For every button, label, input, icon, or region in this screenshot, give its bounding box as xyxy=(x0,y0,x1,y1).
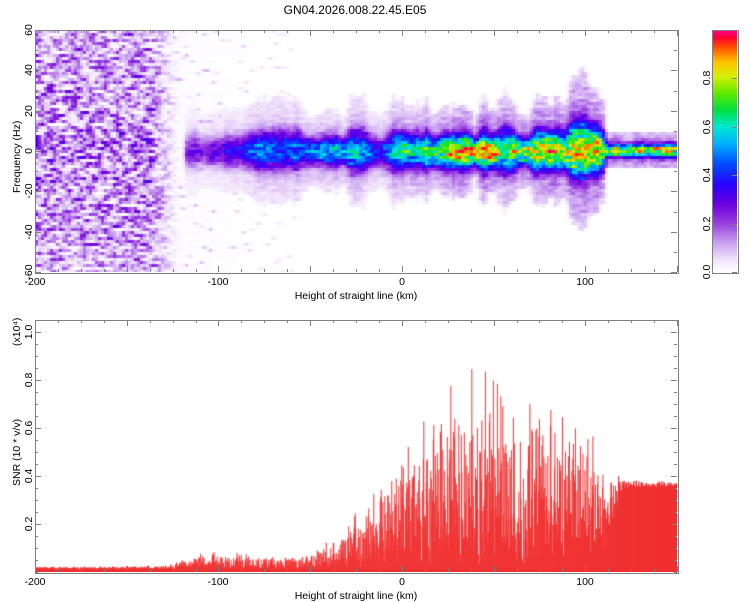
snr-ytick-minor xyxy=(35,416,38,417)
snr-xtick-minor-top xyxy=(425,320,426,323)
snr-xtick-minor-top xyxy=(58,320,59,323)
snr-xtick-minor-top xyxy=(539,320,540,323)
figure-root: GN04.2026.008.22.45.E05 -200-1000100-60-… xyxy=(0,0,750,600)
spectrogram-ytick-minor xyxy=(35,91,38,92)
spectrogram-xticklabel: 100 xyxy=(576,276,594,288)
snr-ytick-minor-right xyxy=(674,332,677,333)
snr-ytick-minor-right xyxy=(674,404,677,405)
snr-ytick-minor xyxy=(35,332,38,333)
spectrogram-xtick-minor xyxy=(585,269,586,272)
colorbar-ticklabel: 0.6 xyxy=(701,120,713,135)
spectrogram-xtick-minor-top xyxy=(608,30,609,33)
colorbar-ticklabel: 0.4 xyxy=(701,168,713,183)
snr-yticklabel: 1.0 xyxy=(23,325,35,340)
snr-ytick-minor-right xyxy=(674,380,677,381)
snr-xtick-minor-top xyxy=(173,320,174,323)
snr-ytick-minor xyxy=(35,560,38,561)
snr-xticklabel: -100 xyxy=(207,576,228,588)
spectrogram-xtick-minor xyxy=(608,269,609,272)
spectrogram-ytick-minor-right xyxy=(674,272,677,273)
figure-title: GN04.2026.008.22.45.E05 xyxy=(0,3,710,17)
snr-xtick-minor-top xyxy=(402,320,403,323)
colorbar-tick xyxy=(732,175,737,176)
snr-xtick-minor-top xyxy=(471,320,472,323)
colorbar-ticklabel: 0.2 xyxy=(701,217,713,232)
spectrogram-y-axis-label: Frequency (Hz) xyxy=(11,121,23,193)
snr-ytick-minor-right xyxy=(674,464,677,465)
snr-ytick-minor xyxy=(35,488,38,489)
spectrogram-ytick-minor xyxy=(35,131,38,132)
snr-xtick-minor xyxy=(631,569,632,572)
snr-xtick-minor-top xyxy=(264,320,265,323)
snr-yticklabel: 0.4 xyxy=(23,469,35,484)
snr-ytick-minor-right xyxy=(674,392,677,393)
spectrogram-xtick-minor xyxy=(310,269,311,272)
spectrogram-xtick-minor-top xyxy=(287,30,288,33)
spectrogram-ytick-minor-right xyxy=(674,252,677,253)
colorbar-ticklabel: 0.0 xyxy=(701,265,713,280)
snr-ytick-minor-right xyxy=(674,368,677,369)
spectrogram-x-axis-label: Height of straight line (km) xyxy=(295,290,418,302)
snr-xtick-minor xyxy=(677,569,678,572)
snr-xtick-minor-top xyxy=(677,320,678,323)
snr-xtick-minor xyxy=(333,569,334,572)
snr-xtick-minor-top xyxy=(494,320,495,323)
snr-xtick-minor xyxy=(585,569,586,572)
spectrogram-ytick-minor-right xyxy=(674,151,677,152)
spectrogram-xtick-minor-top xyxy=(379,30,380,33)
spectrogram-xtick-minor-top xyxy=(356,30,357,33)
snr-xtick-minor xyxy=(425,569,426,572)
spectrogram-xtick-minor xyxy=(127,269,128,272)
snr-xtick-minor xyxy=(241,569,242,572)
snr-ytick-minor-right xyxy=(674,452,677,453)
snr-xtick-minor-top xyxy=(379,320,380,323)
snr-xtick-minor xyxy=(218,569,219,572)
spectrogram-xtick-minor-top xyxy=(333,30,334,33)
snr-xtick-minor-top xyxy=(517,320,518,323)
spectrogram-ytick-minor xyxy=(35,252,38,253)
spectrogram-yticklabel: 40 xyxy=(23,64,35,76)
snr-ytick-minor xyxy=(35,548,38,549)
snr-y-axis-label: SNR (10 * v/v) xyxy=(11,419,23,486)
spectrogram-ytick-minor-right xyxy=(674,131,677,132)
colorbar-tick xyxy=(732,127,737,128)
snr-xtick-minor-top xyxy=(448,320,449,323)
spectrogram-xtick-minor-top xyxy=(494,30,495,33)
snr-ytick-minor-right xyxy=(674,428,677,429)
snr-xtick-minor-top xyxy=(196,320,197,323)
snr-xtick-minor xyxy=(654,569,655,572)
snr-xtick-minor-top xyxy=(150,320,151,323)
spectrogram-xtick-minor xyxy=(654,269,655,272)
snr-xtick-minor xyxy=(104,569,105,572)
snr-xtick-minor-top xyxy=(333,320,334,323)
snr-ytick-minor xyxy=(35,356,38,357)
spectrogram-ytick-minor-right xyxy=(674,191,677,192)
spectrogram-xtick-minor xyxy=(333,269,334,272)
snr-xtick-minor xyxy=(539,569,540,572)
spectrogram-yticklabel: 20 xyxy=(23,105,35,117)
spectrogram-xtick-minor-top xyxy=(448,30,449,33)
snr-trace-plot xyxy=(35,320,677,572)
spectrogram-xtick-minor-top xyxy=(150,30,151,33)
snr-ytick-minor xyxy=(35,452,38,453)
spectrogram-xtick-minor-top xyxy=(539,30,540,33)
snr-xtick-minor-top xyxy=(104,320,105,323)
snr-ytick-minor xyxy=(35,404,38,405)
spectrogram-xtick-minor xyxy=(150,269,151,272)
spectrogram-yticklabel: -40 xyxy=(23,224,35,239)
spectrogram-xtick-minor-top xyxy=(173,30,174,33)
snr-ytick-minor xyxy=(35,476,38,477)
snr-xtick-minor-top xyxy=(127,320,128,323)
snr-ytick-minor-right xyxy=(674,512,677,513)
spectrogram-ytick-minor xyxy=(35,50,38,51)
spectrogram-xtick-minor-top xyxy=(631,30,632,33)
colorbar-tick xyxy=(732,224,737,225)
snr-ytick-minor-right xyxy=(674,320,677,321)
snr-xticklabel: 100 xyxy=(576,576,594,588)
spectrogram-xtick-minor xyxy=(356,269,357,272)
snr-xtick-minor-top xyxy=(562,320,563,323)
spectrogram-xtick-minor-top xyxy=(196,30,197,33)
spectrogram-xtick-minor xyxy=(173,269,174,272)
spectrogram-xtick-minor xyxy=(517,269,518,272)
snr-xtick-minor xyxy=(264,569,265,572)
snr-xticklabel: 0 xyxy=(399,576,405,588)
snr-xtick-minor-top xyxy=(241,320,242,323)
snr-ytick-minor xyxy=(35,368,38,369)
spectrogram-xtick-minor xyxy=(631,269,632,272)
snr-y-axis-multiplier: (x10⁴) xyxy=(11,318,23,346)
snr-xtick-minor xyxy=(402,569,403,572)
spectrogram-yticklabel: 60 xyxy=(23,24,35,36)
spectrogram-xtick-minor xyxy=(539,269,540,272)
spectrogram-xtick-minor xyxy=(448,269,449,272)
spectrogram-ytick-minor xyxy=(35,232,38,233)
snr-xtick-minor-top xyxy=(81,320,82,323)
spectrogram-xtick-minor xyxy=(402,269,403,272)
snr-ytick-minor-right xyxy=(674,440,677,441)
snr-ytick-minor xyxy=(35,440,38,441)
spectrogram-xtick-minor xyxy=(471,269,472,272)
spectrogram-xtick-minor-top xyxy=(81,30,82,33)
spectrogram-ytick-minor-right xyxy=(674,111,677,112)
spectrogram-ytick-minor xyxy=(35,70,38,71)
spectrogram-ytick-minor-right xyxy=(674,70,677,71)
spectrogram-xtick-minor xyxy=(379,269,380,272)
snr-ytick-minor-right xyxy=(674,524,677,525)
spectrogram-xtick-minor-top xyxy=(218,30,219,33)
snr-xtick-minor xyxy=(173,569,174,572)
spectrogram-xtick-minor xyxy=(81,269,82,272)
snr-ytick-minor-right xyxy=(674,356,677,357)
spectrogram-ytick-minor xyxy=(35,212,38,213)
spectrogram-xtick-minor-top xyxy=(562,30,563,33)
spectrogram-xtick-minor xyxy=(677,269,678,272)
spectrogram-ytick-minor xyxy=(35,151,38,152)
spectrogram-xtick-minor xyxy=(264,269,265,272)
spectrogram-xtick-minor-top xyxy=(585,30,586,33)
spectrogram-xtick-minor xyxy=(104,269,105,272)
spectrogram-xtick-minor xyxy=(196,269,197,272)
snr-ytick-minor-right xyxy=(674,500,677,501)
snr-ytick-minor-right xyxy=(674,548,677,549)
snr-yticklabel: 0.2 xyxy=(23,517,35,532)
spectrogram-ytick-minor-right xyxy=(674,171,677,172)
snr-ytick-minor xyxy=(35,572,38,573)
spectrogram-xtick-minor-top xyxy=(241,30,242,33)
snr-xtick-minor-top xyxy=(654,320,655,323)
snr-ytick-minor xyxy=(35,344,38,345)
spectrogram-ytick-minor xyxy=(35,30,38,31)
spectrogram-xtick-minor-top xyxy=(517,30,518,33)
spectrogram-ytick-minor-right xyxy=(674,91,677,92)
snr-xtick-minor xyxy=(58,569,59,572)
snr-ytick-minor xyxy=(35,320,38,321)
snr-xtick-minor xyxy=(356,569,357,572)
snr-xtick-minor xyxy=(196,569,197,572)
snr-xtick-minor xyxy=(150,569,151,572)
snr-xtick-minor xyxy=(127,569,128,572)
spectrogram-ytick-minor xyxy=(35,272,38,273)
colorbar-tick xyxy=(732,272,737,273)
snr-ytick-minor xyxy=(35,500,38,501)
colorbar-gradient xyxy=(712,30,737,272)
snr-xtick-minor xyxy=(448,569,449,572)
snr-xtick-minor xyxy=(287,569,288,572)
snr-ytick-minor-right xyxy=(674,572,677,573)
snr-ytick-minor xyxy=(35,392,38,393)
snr-x-axis-label: Height of straight line (km) xyxy=(295,590,418,602)
snr-ytick-minor xyxy=(35,512,38,513)
colorbar-tick xyxy=(732,78,737,79)
spectrogram-xtick-minor xyxy=(287,269,288,272)
snr-xtick-minor-top xyxy=(585,320,586,323)
snr-xtick-minor xyxy=(517,569,518,572)
snr-xtick-minor-top xyxy=(218,320,219,323)
snr-xticklabel: -200 xyxy=(24,576,45,588)
snr-xtick-minor xyxy=(310,569,311,572)
spectrogram-xtick-minor-top xyxy=(677,30,678,33)
spectrogram-xtick-minor-top xyxy=(310,30,311,33)
snr-ytick-minor-right xyxy=(674,476,677,477)
snr-ytick-minor xyxy=(35,380,38,381)
snr-xtick-minor-top xyxy=(310,320,311,323)
spectrogram-xtick-minor-top xyxy=(104,30,105,33)
snr-xtick-minor xyxy=(471,569,472,572)
snr-ytick-minor-right xyxy=(674,344,677,345)
spectrogram-xtick-minor-top xyxy=(402,30,403,33)
spectrogram-xtick-minor xyxy=(218,269,219,272)
snr-xtick-minor xyxy=(562,569,563,572)
spectrogram-xtick-minor-top xyxy=(58,30,59,33)
spectrogram-xtick-minor-top xyxy=(654,30,655,33)
snr-yticklabel: 0.6 xyxy=(23,421,35,436)
snr-ytick-minor-right xyxy=(674,560,677,561)
snr-xtick-minor xyxy=(608,569,609,572)
spectrogram-xtick-minor xyxy=(241,269,242,272)
snr-ytick-minor-right xyxy=(674,416,677,417)
snr-ytick-minor-right xyxy=(674,536,677,537)
snr-xtick-minor xyxy=(81,569,82,572)
spectrogram-ytick-minor xyxy=(35,191,38,192)
spectrogram-xtick-minor-top xyxy=(127,30,128,33)
spectrogram-ytick-minor-right xyxy=(674,232,677,233)
snr-xtick-minor-top xyxy=(631,320,632,323)
spectrogram-yticklabel: -20 xyxy=(23,183,35,198)
snr-ytick-minor xyxy=(35,536,38,537)
snr-xtick-minor-top xyxy=(356,320,357,323)
snr-xtick-minor xyxy=(379,569,380,572)
snr-ytick-minor xyxy=(35,464,38,465)
spectrogram-ytick-minor-right xyxy=(674,30,677,31)
colorbar-ticklabel: 0.8 xyxy=(701,71,713,86)
snr-ytick-minor-right xyxy=(674,488,677,489)
spectrogram-xtick-minor-top xyxy=(425,30,426,33)
spectrogram-xtick-minor xyxy=(494,269,495,272)
snr-xtick-minor-top xyxy=(287,320,288,323)
spectrogram-xticklabel: 0 xyxy=(399,276,405,288)
spectrogram-xtick-minor xyxy=(425,269,426,272)
snr-xtick-minor xyxy=(494,569,495,572)
spectrogram-image xyxy=(35,30,677,272)
spectrogram-ytick-minor xyxy=(35,111,38,112)
spectrogram-yticklabel: -60 xyxy=(23,264,35,279)
spectrogram-xtick-minor xyxy=(58,269,59,272)
snr-ytick-minor xyxy=(35,428,38,429)
spectrogram-xtick-minor-top xyxy=(471,30,472,33)
spectrogram-ytick-minor-right xyxy=(674,50,677,51)
spectrogram-xtick-minor xyxy=(562,269,563,272)
spectrogram-xticklabel: -100 xyxy=(207,276,228,288)
snr-yticklabel: 0.8 xyxy=(23,373,35,388)
spectrogram-yticklabel: 0 xyxy=(23,148,35,154)
spectrogram-ytick-minor xyxy=(35,171,38,172)
spectrogram-xtick-minor-top xyxy=(264,30,265,33)
snr-ytick-minor xyxy=(35,524,38,525)
snr-xtick-minor-top xyxy=(608,320,609,323)
spectrogram-ytick-minor-right xyxy=(674,212,677,213)
